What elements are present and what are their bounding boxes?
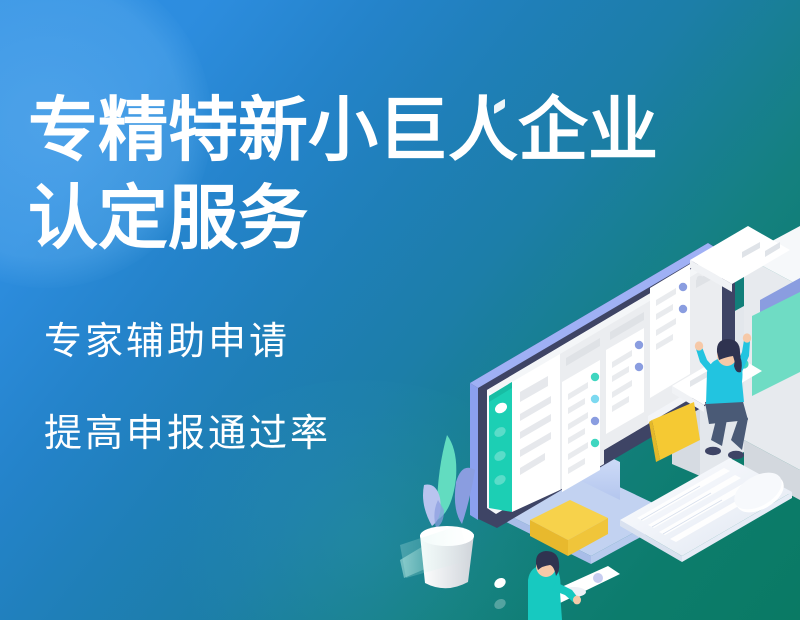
page-title: 专精特新小巨人企业 认定服务 bbox=[28, 86, 800, 262]
headline-line-2: 认定服务 bbox=[28, 174, 800, 262]
subtitle-2: 提高申报通过率 bbox=[44, 412, 331, 456]
promo-banner: 专精特新小巨人企业 认定服务 专家辅助申请 提高申报通过率 bbox=[0, 0, 800, 620]
text-block: 专精特新小巨人企业 认定服务 专家辅助申请 提高申报通过率 bbox=[0, 0, 800, 620]
subtitle-1: 专家辅助申请 bbox=[44, 320, 290, 364]
headline-line-1: 专精特新小巨人企业 bbox=[28, 91, 658, 169]
